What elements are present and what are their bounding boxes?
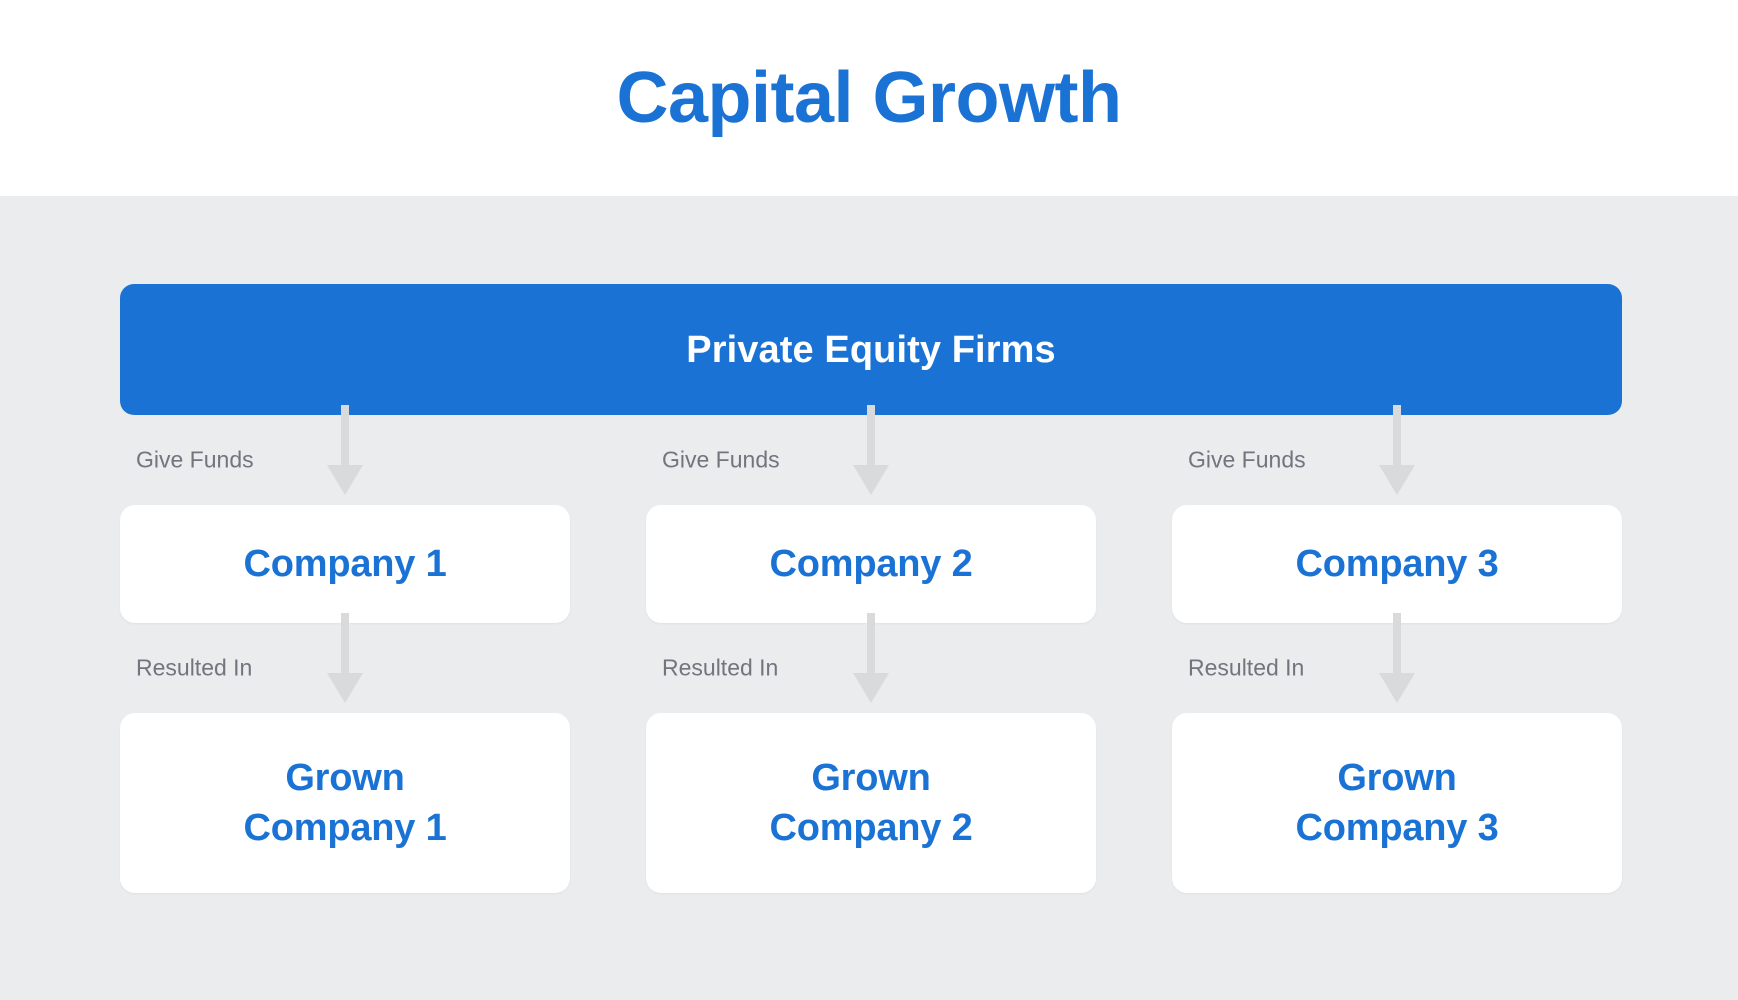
capital-growth-infographic: Capital Growth Private Equity Firms Give… [0,0,1738,1000]
card-grown-company-1[interactable]: Grown Company 1 [120,713,570,893]
flow-column-3: Give Funds Company 3 Resulted In [1172,415,1622,995]
give-funds-label: Give Funds [662,449,780,472]
card-company-label: Company 2 [769,539,972,589]
flow-columns: Give Funds Company 1 Resulted In [120,415,1622,995]
card-company-2[interactable]: Company 2 [646,505,1096,623]
flow-column-2: Give Funds Company 2 Resulted In [646,415,1096,995]
card-company-label: Company 1 [243,539,446,589]
diagram-canvas: Private Equity Firms Give Funds Company … [0,196,1738,1000]
connector-resulted-in-2: Resulted In [646,623,1096,713]
header: Capital Growth [0,0,1738,196]
card-grown-company-label: Grown Company 1 [243,753,446,853]
connector-give-funds-1: Give Funds [120,415,570,505]
arrow-down-icon [1375,613,1419,705]
give-funds-label: Give Funds [1188,449,1306,472]
resulted-in-label: Resulted In [662,657,778,680]
card-company-label: Company 3 [1295,539,1498,589]
connector-resulted-in-1: Resulted In [120,623,570,713]
give-funds-label: Give Funds [136,449,254,472]
resulted-in-label: Resulted In [136,657,252,680]
card-grown-company-2[interactable]: Grown Company 2 [646,713,1096,893]
resulted-in-label: Resulted In [1188,657,1304,680]
arrow-down-icon [323,613,367,705]
arrow-down-icon [849,613,893,705]
page-title: Capital Growth [616,62,1121,134]
banner-label: Private Equity Firms [686,331,1055,369]
flow-column-1: Give Funds Company 1 Resulted In [120,415,570,995]
card-grown-company-label: Grown Company 2 [769,753,972,853]
arrow-down-icon [849,405,893,497]
connector-give-funds-3: Give Funds [1172,415,1622,505]
arrow-down-icon [1375,405,1419,497]
card-grown-company-label: Grown Company 3 [1295,753,1498,853]
connector-resulted-in-3: Resulted In [1172,623,1622,713]
card-company-3[interactable]: Company 3 [1172,505,1622,623]
card-company-1[interactable]: Company 1 [120,505,570,623]
card-grown-company-3[interactable]: Grown Company 3 [1172,713,1622,893]
connector-give-funds-2: Give Funds [646,415,1096,505]
private-equity-firms-banner[interactable]: Private Equity Firms [120,284,1622,415]
arrow-down-icon [323,405,367,497]
